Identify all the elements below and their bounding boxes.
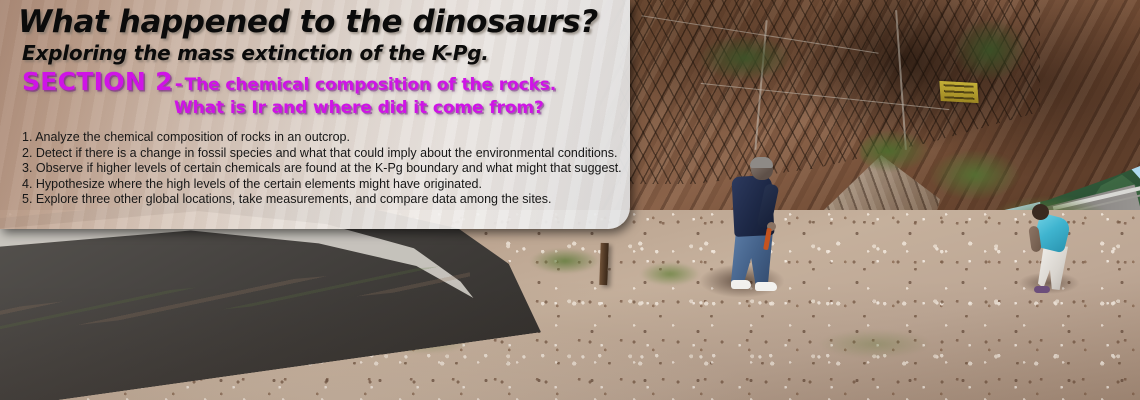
person-shoe bbox=[755, 282, 777, 291]
person-shoe bbox=[731, 280, 751, 289]
person-head bbox=[1032, 204, 1049, 220]
person-in-teal-top bbox=[1028, 200, 1080, 295]
list-item: 2. Detect if there is a change in fossil… bbox=[18, 146, 630, 162]
list-item: 4. Hypothesize where the high levels of … bbox=[18, 177, 630, 193]
section-dash: - bbox=[173, 73, 185, 95]
objectives-list: 1. Analyze the chemical composition of r… bbox=[18, 130, 630, 208]
list-item: 5. Explore three other global locations,… bbox=[18, 192, 630, 208]
section-description: The chemical composition of the rocks. bbox=[185, 75, 557, 95]
page-subtitle: Exploring the mass extinction of the K-P… bbox=[22, 40, 630, 66]
page-title: What happened to the dinosaurs? bbox=[18, 4, 630, 40]
yellow-warning-sign bbox=[939, 81, 978, 103]
geologist-in-blue-shirt bbox=[725, 158, 795, 298]
wooden-post bbox=[599, 243, 608, 285]
section-label: SECTION 2 bbox=[22, 67, 173, 96]
person-shoe bbox=[1034, 286, 1050, 293]
list-item: 3. Observe if higher levels of certain c… bbox=[18, 161, 630, 177]
list-item: 1. Analyze the chemical composition of r… bbox=[18, 130, 630, 146]
section-heading: SECTION 2-The chemical composition of th… bbox=[22, 70, 630, 120]
slide-canvas: What happened to the dinosaurs? Explorin… bbox=[0, 0, 1140, 400]
person-hair bbox=[750, 157, 773, 168]
section-question: What is Ir and where did it come from? bbox=[174, 96, 630, 120]
title-panel: What happened to the dinosaurs? Explorin… bbox=[0, 0, 630, 229]
